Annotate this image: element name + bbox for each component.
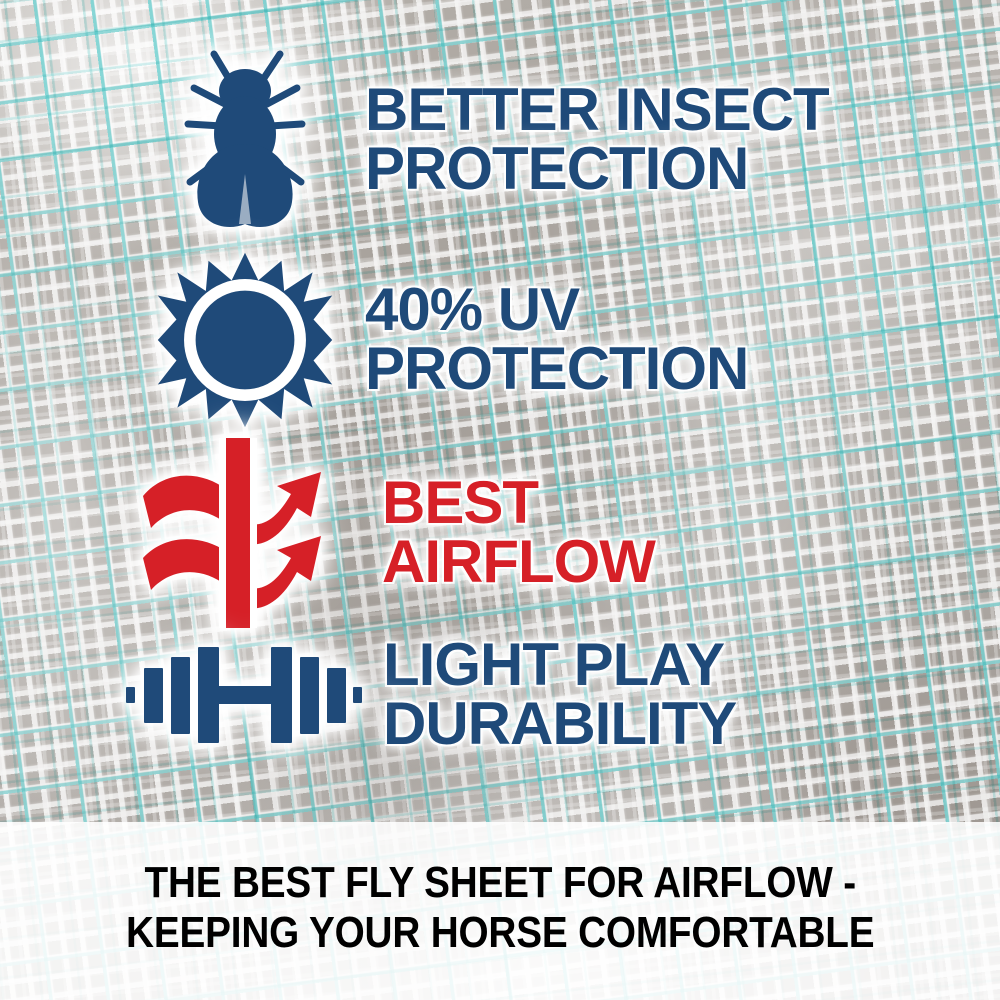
sun-icon — [156, 251, 334, 429]
feature-row-uv-protection: 40% UV PROTECTION — [150, 245, 748, 435]
feature-label-insect-protection: BETTER INSECT PROTECTION — [365, 81, 829, 199]
airflow-icon — [135, 438, 340, 628]
airflow-icon-slot — [130, 435, 345, 630]
feature-row-light-play-durability: LIGHT PLAY DURABILITY — [120, 635, 736, 755]
feature-row-best-airflow: BEST AIRFLOW — [130, 435, 655, 630]
caption-line-1: THE BEST FLY SHEET FOR AIRFLOW - — [144, 860, 855, 906]
fly-icon — [170, 48, 320, 233]
feature-label-best-airflow: BEST AIRFLOW — [382, 474, 655, 592]
infographic-canvas: BETTER INSECT PROTECTION 40% UV PROTECTI… — [0, 0, 1000, 1000]
caption-panel: THE BEST FLY SHEET FOR AIRFLOW - KEEPING… — [0, 822, 1000, 1000]
feature-row-insect-protection: BETTER INSECT PROTECTION — [150, 40, 829, 240]
caption-line-2: KEEPING YOUR HORSE COMFORTABLE — [126, 910, 874, 956]
dumbbell-icon-slot — [120, 635, 365, 755]
sun-icon-slot — [150, 245, 340, 435]
feature-list: BETTER INSECT PROTECTION 40% UV PROTECTI… — [0, 0, 1000, 822]
feature-label-uv-protection: 40% UV PROTECTION — [365, 281, 748, 399]
dumbbell-icon — [124, 643, 362, 747]
feature-label-light-play-durability: LIGHT PLAY DURABILITY — [383, 636, 736, 754]
fly-icon-slot — [150, 40, 340, 240]
